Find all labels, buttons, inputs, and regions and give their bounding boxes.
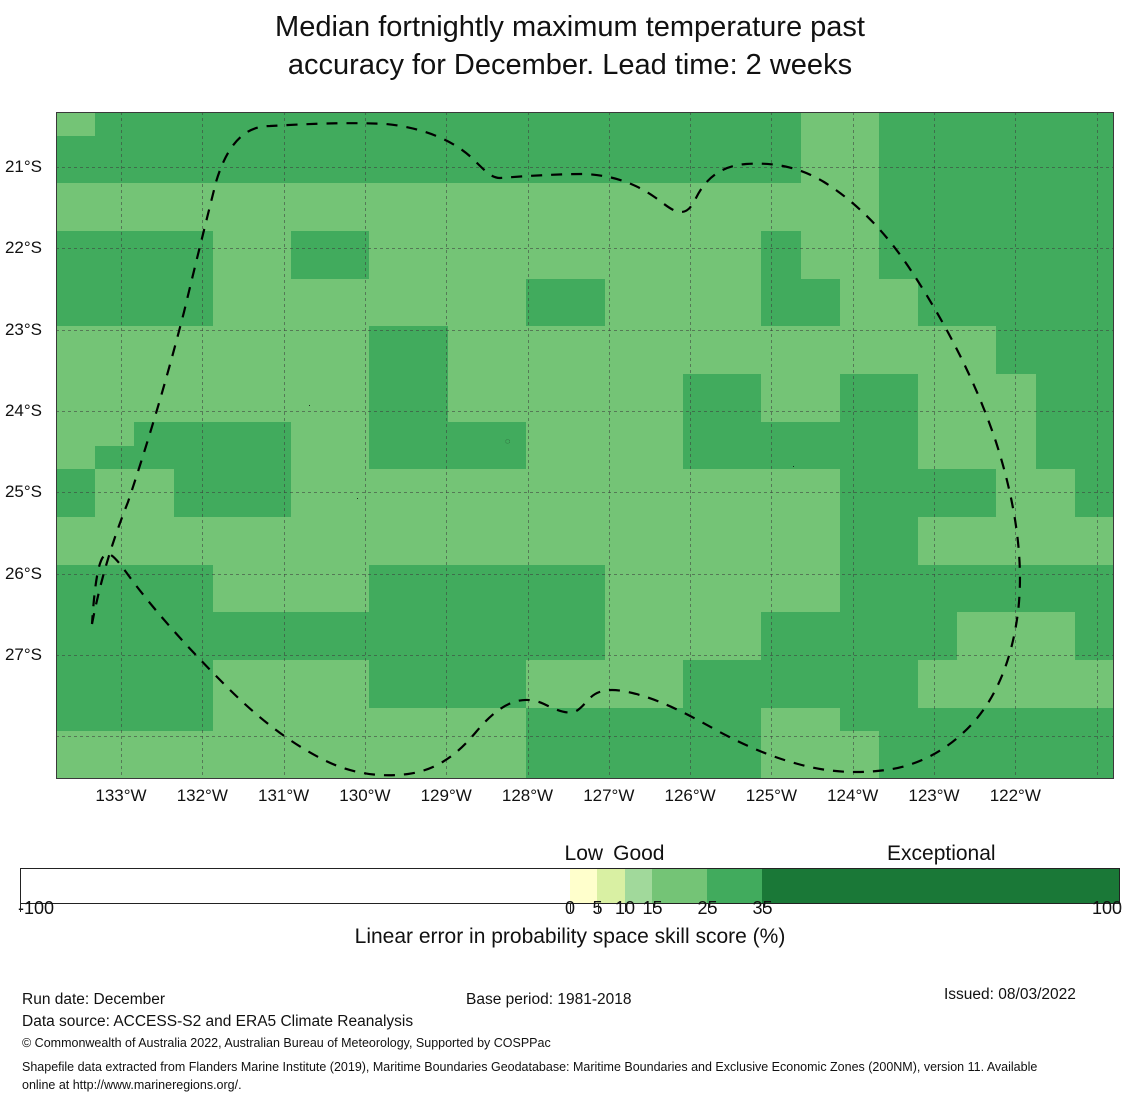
colorbar-tick-mark — [763, 904, 764, 912]
colorbar-tick-label: 100 — [1092, 898, 1122, 919]
footer-data-source: Data source: ACCESS-S2 and ERA5 Climate … — [22, 1013, 413, 1031]
title-line-1: Median fortnightly maximum temperature p… — [0, 8, 1140, 46]
x-axis-tick-label: 133°W — [95, 786, 146, 806]
footer-shapefile-line-2: online at http://www.marineregions.org/. — [22, 1076, 242, 1094]
x-axis-tick-label: 124°W — [827, 786, 878, 806]
x-axis-tick-label: 128°W — [502, 786, 553, 806]
island-marker: · — [308, 401, 311, 410]
y-axis-tick-label: 24°S — [5, 401, 42, 421]
colorbar-tick-mark — [625, 904, 626, 912]
y-axis-tick-label: 27°S — [5, 645, 42, 665]
footer-base-period: Base period: 1981-2018 — [466, 991, 631, 1009]
y-axis-tick-label: 23°S — [5, 320, 42, 340]
island-marker: ◌ — [505, 437, 510, 446]
x-axis-tick-label: 122°W — [990, 786, 1041, 806]
x-axis-tick-label: 127°W — [583, 786, 634, 806]
x-axis-tick-label: 123°W — [908, 786, 959, 806]
colorbar-tick-mark — [1120, 904, 1121, 912]
colorbar-axis-label: Linear error in probability space skill … — [0, 925, 1140, 949]
page-title: Median fortnightly maximum temperature p… — [0, 8, 1140, 85]
map-plot-area[interactable]: · ◌ · · — [56, 112, 1114, 779]
island-marker: · — [356, 494, 359, 503]
colorbar-tick-mark — [20, 904, 21, 912]
island-marker: · — [792, 462, 795, 471]
footer-shapefile-line-1: Shapefile data extracted from Flanders M… — [22, 1058, 1037, 1076]
footer-issued: Issued: 08/03/2022 — [944, 986, 1076, 1004]
colorbar-segment — [762, 869, 1119, 903]
footer-run-date: Run date: December — [22, 991, 165, 1009]
colorbar-category-label: Exceptional — [887, 842, 996, 866]
y-axis-tick-label: 25°S — [5, 482, 42, 502]
x-axis-tick-label: 126°W — [664, 786, 715, 806]
x-axis-tick-label: 125°W — [746, 786, 797, 806]
eez-boundary-line — [56, 112, 1114, 779]
colorbar-tick-mark — [653, 904, 654, 912]
title-line-2: accuracy for December. Lead time: 2 week… — [0, 46, 1140, 84]
x-axis-tick-label: 131°W — [258, 786, 309, 806]
colorbar-category-label: Low — [565, 842, 604, 866]
colorbar-segment — [21, 869, 570, 903]
colorbar-tick-mark — [708, 904, 709, 912]
colorbar-tick-label: -100 — [18, 898, 54, 919]
x-axis-tick-label: 130°W — [339, 786, 390, 806]
y-axis-tick-label: 22°S — [5, 238, 42, 258]
y-axis-tick-label: 21°S — [5, 157, 42, 177]
x-axis-tick-label: 132°W — [177, 786, 228, 806]
colorbar-category-label: Good — [613, 842, 664, 866]
y-axis-tick-label: 26°S — [5, 564, 42, 584]
x-axis-tick-label: 129°W — [421, 786, 472, 806]
colorbar-tick-mark — [570, 904, 571, 912]
footer-copyright: © Commonwealth of Australia 2022, Austra… — [22, 1034, 551, 1052]
colorbar-tick-mark — [598, 904, 599, 912]
